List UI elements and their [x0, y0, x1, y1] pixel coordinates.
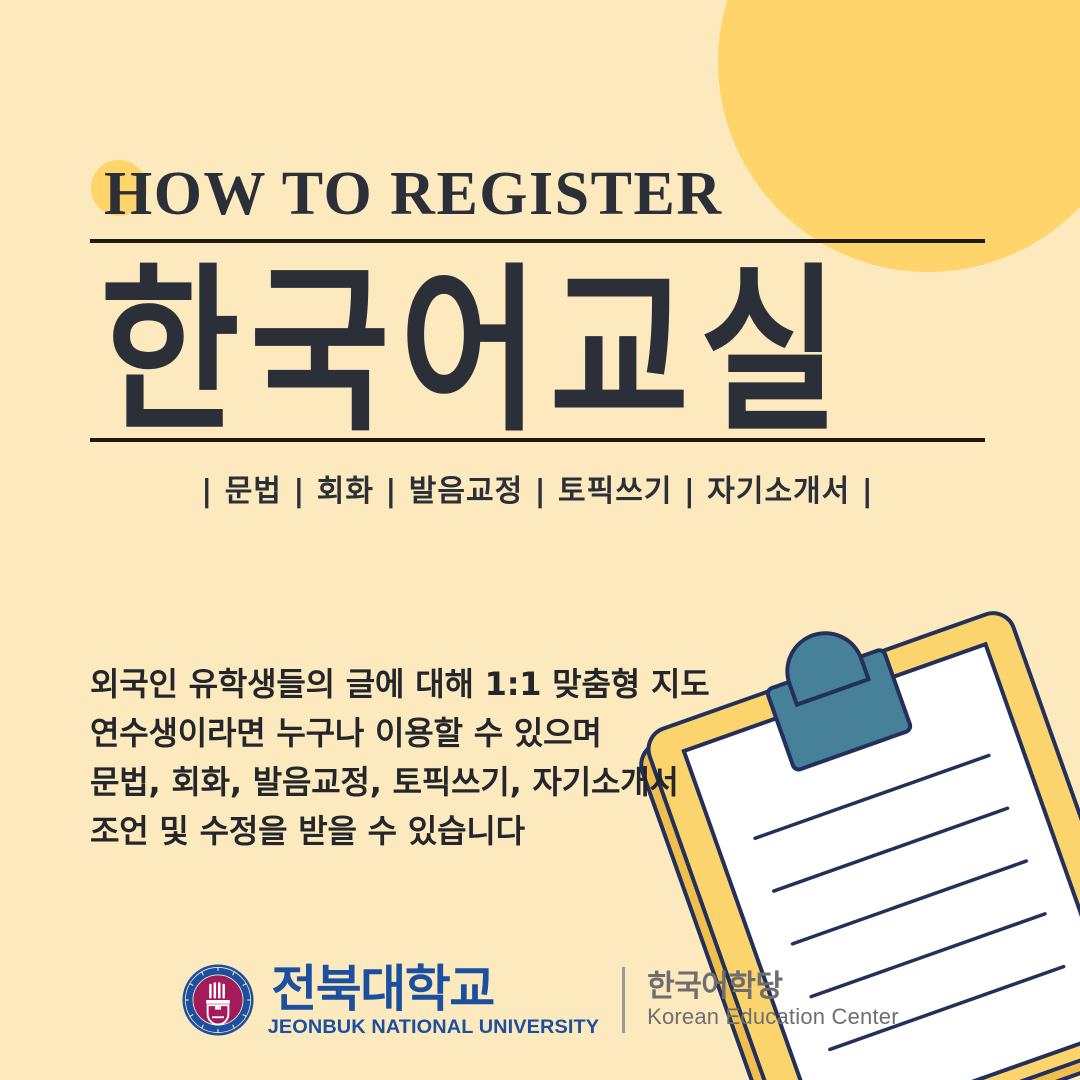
center-wordmark: 한국어학당 Korean Education Center: [647, 970, 899, 1030]
university-wordmark: 전북대학교 JEONBUK NATIONAL UNIVERSITY: [271, 962, 596, 1038]
decorative-large-circle: [718, 0, 1080, 272]
eyebrow-heading: HOW TO REGISTER: [104, 163, 723, 225]
description-line: 문법, 회화, 발음교정, 토픽쓰기, 자기소개서: [90, 758, 709, 807]
course-topics-subtitle: | 문법 | 회화 | 발음교정 | 토픽쓰기 | 자기소개서 |: [90, 466, 985, 510]
description-paragraph: 외국인 유학생들의 글에 대해 1:1 맞춤형 지도 연수생이라면 누구나 이용…: [90, 660, 709, 856]
lockup-divider: [622, 967, 625, 1033]
center-name-en: Korean Education Center: [647, 1004, 899, 1030]
poster-canvas: HOW TO REGISTER 한국어교실 | 문법 | 회화 | 발음교정 |…: [0, 0, 1080, 1080]
divider-rule-bottom: [90, 438, 985, 442]
university-seal-icon: [181, 963, 255, 1037]
description-line: 조언 및 수정을 받을 수 있습니다: [90, 807, 709, 856]
divider-rule-top: [90, 239, 985, 243]
university-name-ko: 전북대학교: [271, 962, 596, 1016]
footer-logo-lockup: 전북대학교 JEONBUK NATIONAL UNIVERSITY 한국어학당 …: [0, 962, 1080, 1038]
description-line: 외국인 유학생들의 글에 대해 1:1 맞춤형 지도: [90, 660, 709, 709]
description-line: 연수생이라면 누구나 이용할 수 있으며: [90, 709, 709, 758]
center-name-ko: 한국어학당: [647, 970, 899, 1004]
page-title: 한국어교실: [100, 246, 985, 458]
university-name-en: JEONBUK NATIONAL UNIVERSITY: [268, 1016, 599, 1038]
